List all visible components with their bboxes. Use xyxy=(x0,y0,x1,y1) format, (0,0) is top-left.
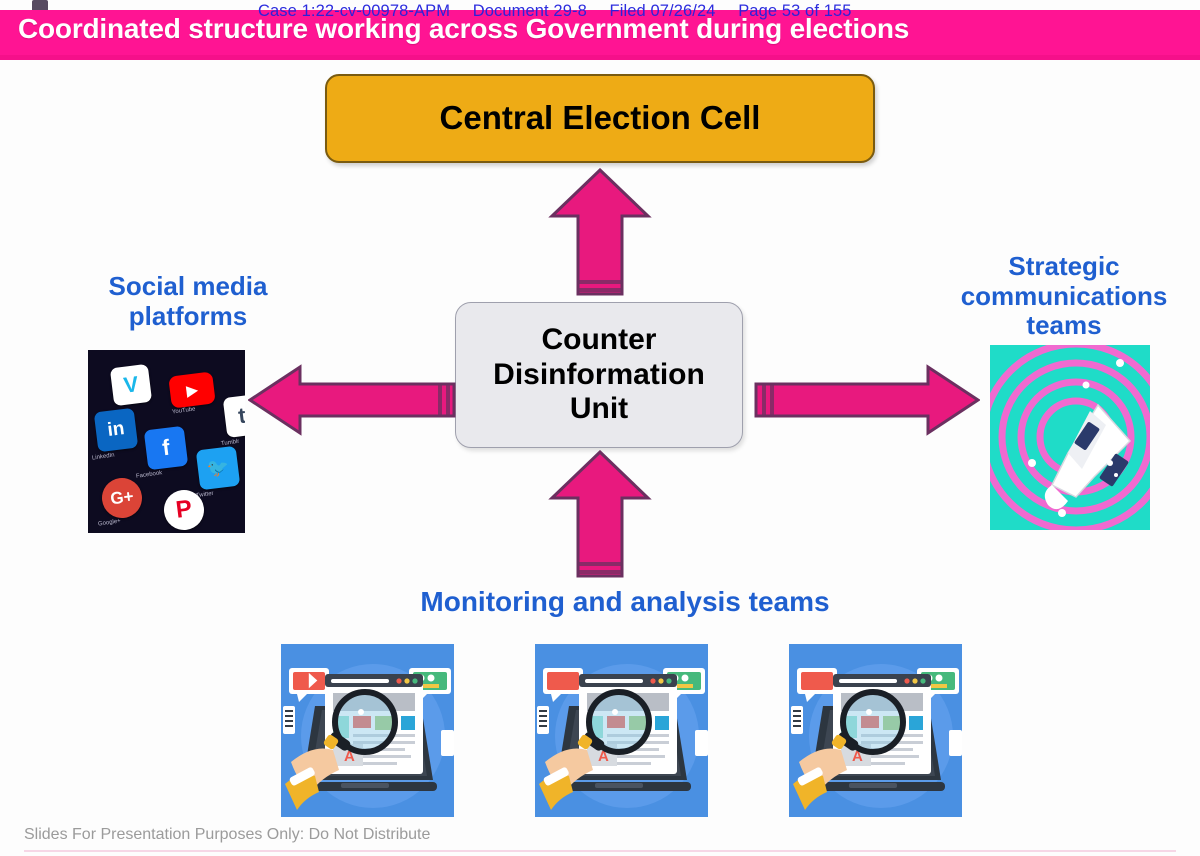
image-monitoring-team-1: A xyxy=(281,644,454,817)
youtube-caption: YouTube xyxy=(172,406,196,415)
facebook-caption: Facebook xyxy=(136,470,163,480)
vimeo-icon: V xyxy=(110,364,152,406)
node-counter-disinformation-unit: Counter Disinformation Unit xyxy=(455,302,743,448)
megaphone-illustration xyxy=(990,345,1150,530)
cdu-line-2: Disinformation xyxy=(493,358,705,391)
page-title: Coordinated structure working across Gov… xyxy=(18,13,1178,45)
node-counter-disinformation-unit-label: Counter Disinformation Unit xyxy=(493,323,705,427)
label-strategic-communications-teams: Strategic communications teams xyxy=(930,252,1198,341)
footer-divider xyxy=(24,850,1176,852)
linkedin-icon: in xyxy=(94,408,139,453)
cdu-line-3: Unit xyxy=(570,392,628,425)
image-strategic-communications xyxy=(990,345,1150,530)
monitoring-analysis-illustration: A xyxy=(281,644,454,817)
banner-bottom-stripe xyxy=(0,55,1200,60)
label-strategic-line-2: communications xyxy=(961,281,1168,311)
arrow-left-to-social-media xyxy=(248,364,458,436)
arrow-up-from-monitoring-teams xyxy=(548,450,652,582)
arrow-up-to-central-election-cell xyxy=(548,168,652,300)
tumblr-icon: t xyxy=(223,394,245,438)
cdu-line-1: Counter xyxy=(541,323,656,356)
twitter-icon: 🐦 xyxy=(196,446,241,491)
image-social-media-platforms: V ▶ YouTube t Tumblr in LinkedIn f Faceb… xyxy=(88,350,245,533)
label-social-line-1: Social media xyxy=(109,271,268,301)
image-monitoring-team-3: A xyxy=(789,644,962,817)
google-plus-icon: G+ xyxy=(100,476,145,521)
label-social-media-platforms: Social media platforms xyxy=(60,272,316,331)
monitoring-analysis-illustration: A xyxy=(789,644,962,817)
linkedin-caption: LinkedIn xyxy=(92,452,115,461)
label-strategic-line-3: teams xyxy=(1026,310,1101,340)
label-social-line-2: platforms xyxy=(129,301,247,331)
monitoring-analysis-illustration: A xyxy=(535,644,708,817)
footer-disclaimer: Slides For Presentation Purposes Only: D… xyxy=(24,826,430,844)
node-central-election-cell-label: Central Election Cell xyxy=(440,99,761,137)
google-plus-caption: Google+ xyxy=(98,518,121,527)
label-monitoring-analysis-teams: Monitoring and analysis teams xyxy=(330,586,920,618)
arrow-right-to-strategic-comms xyxy=(752,364,980,436)
image-monitoring-team-2: A xyxy=(535,644,708,817)
slide-canvas: Coordinated structure working across Gov… xyxy=(0,0,1200,856)
youtube-icon: ▶ xyxy=(168,371,216,408)
label-strategic-line-1: Strategic xyxy=(1008,251,1119,281)
node-central-election-cell: Central Election Cell xyxy=(325,74,875,163)
facebook-icon: f xyxy=(144,426,189,471)
